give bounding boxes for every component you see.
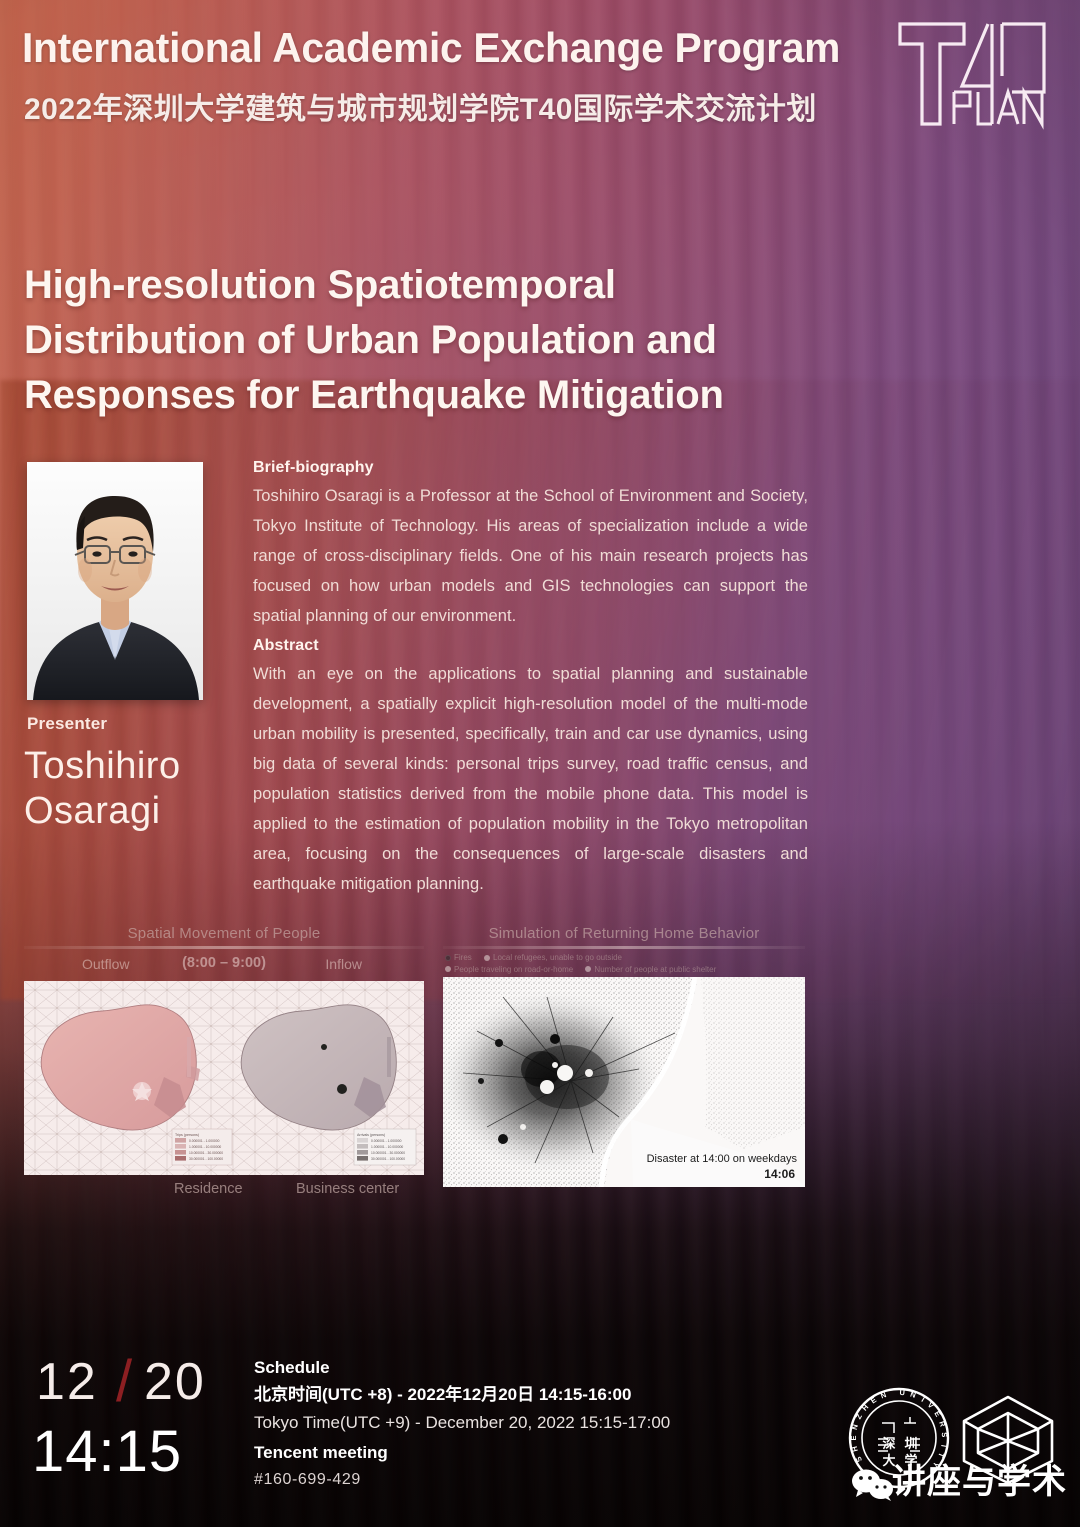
page-title: High-resolution Spatiotemporal Distribut…: [24, 258, 814, 423]
svg-text:1.000001 - 10.000000: 1.000001 - 10.000000: [189, 1145, 221, 1149]
figure-right-map-image: Disaster at 14:00 on weekdays 14:06: [443, 977, 805, 1187]
svg-text:0.000001 - 1.000000: 0.000001 - 1.000000: [189, 1139, 220, 1143]
presenter-label: Presenter: [27, 714, 107, 734]
meeting-heading: Tencent meeting: [254, 1443, 774, 1463]
legend-dot-refugees: [484, 955, 490, 961]
figures-section: Spatial Movement of People Outflow (8:00…: [0, 925, 1080, 1215]
meeting-id: #160-699-429: [254, 1466, 774, 1494]
header-title-chinese: 2022年深圳大学建筑与城市规划学院T40国际学术交流计划: [24, 84, 817, 128]
figure-returning-home-simulation: Simulation of Returning Home Behavior Fi…: [443, 925, 805, 1187]
svg-text:S: S: [854, 1455, 864, 1464]
event-date-month: 12: [36, 1352, 98, 1412]
schedule-tokyo-time: Tokyo Time(UTC +9) - December 20, 2022 1…: [254, 1409, 774, 1437]
bio-heading: Brief-biography: [253, 459, 808, 477]
figure-spatial-movement: Spatial Movement of People Outflow (8:00…: [24, 925, 424, 1203]
svg-text:10.000001 - 30.000000: 10.000001 - 30.000000: [189, 1151, 223, 1155]
figure-right-legend: Fires Local refugees, unable to go outsi…: [443, 952, 805, 975]
wechat-icon: [850, 1467, 896, 1501]
event-date: 12 / 20: [32, 1352, 242, 1408]
svg-text:N: N: [850, 1423, 860, 1430]
svg-text:30.000001 - 100.00000: 30.000001 - 100.00000: [371, 1157, 405, 1161]
legend-dot-shelter: [585, 966, 591, 972]
event-date-block: 12 / 20 14:15: [32, 1352, 242, 1485]
poster-root: International Academic Exchange Program …: [0, 0, 1080, 1527]
svg-text:E: E: [849, 1435, 858, 1440]
event-date-day: 20: [144, 1352, 206, 1412]
figure-right-caption: Disaster at 14:00 on weekdays: [647, 1153, 797, 1165]
svg-text:深: 深: [882, 1436, 895, 1451]
svg-text:U: U: [899, 1388, 905, 1397]
svg-text:S: S: [940, 1432, 949, 1438]
figure-right-title: Simulation of Returning Home Behavior: [443, 925, 805, 942]
svg-text:E: E: [932, 1409, 942, 1418]
figure-right-rule: [443, 946, 805, 949]
footer-logos: S H E N Z H E N U N I V E R S I T: [830, 1383, 1070, 1523]
figure-left-foot-residence: Residence: [174, 1181, 243, 1197]
presenter-photo: [27, 462, 203, 700]
figure-left-label-time: (8:00 – 9:00): [182, 955, 266, 971]
svg-text:E: E: [869, 1395, 878, 1405]
figure-left-foot-business-center: Business center: [296, 1181, 399, 1197]
bio-text: Toshihiro Osaragi is a Professor at the …: [253, 481, 808, 631]
legend-label-0: Fires: [454, 953, 472, 962]
abstract-text: With an eye on the applications to spati…: [253, 659, 808, 899]
figure-right-timestamp: 14:06: [764, 1167, 795, 1181]
event-date-separator: /: [116, 1348, 134, 1415]
figure-left-label-outflow: Outflow: [82, 956, 129, 972]
svg-text:I: I: [939, 1444, 948, 1448]
svg-text:30.000001 - 100.00000: 30.000001 - 100.00000: [189, 1157, 223, 1161]
legend-label-1: Local refugees, unable to go outside: [493, 953, 622, 962]
figure-left-map-image: Trips (persons) 0.000001 - 1.000000 1.00…: [24, 981, 424, 1175]
svg-text:Trips (persons): Trips (persons): [175, 1133, 199, 1137]
presenter-name: Toshihiro Osaragi: [24, 744, 239, 834]
figure-left-footer: Residence Business center: [24, 1179, 424, 1203]
svg-text:0.000001 - 1.000000: 0.000001 - 1.000000: [371, 1139, 402, 1143]
figure-left-sublabels: Outflow (8:00 – 9:00) Inflow: [24, 953, 424, 979]
wechat-account-name: 讲座与学术: [892, 1454, 1067, 1503]
poster-header: International Academic Exchange Program …: [0, 0, 1080, 150]
figure-left-rule: [24, 946, 424, 949]
schedule-block: Schedule 北京时间(UTC +8) - 2022年12月20日 14:1…: [254, 1358, 774, 1494]
abstract-heading: Abstract: [253, 637, 808, 655]
legend-label-2: People traveling on road-or-home: [454, 965, 573, 974]
body-content: Brief-biography Toshihiro Osaragi is a P…: [253, 459, 808, 899]
event-time: 14:15: [32, 1418, 242, 1485]
schedule-beijing-time: 北京时间(UTC +8) - 2022年12月20日 14:15-16:00: [254, 1381, 774, 1409]
schedule-heading: Schedule: [254, 1358, 774, 1378]
legend-dot-travelers: [445, 966, 451, 972]
legend-label-3: Number of people at public shelter: [594, 965, 716, 974]
legend-dot-fires: [445, 955, 451, 961]
svg-text:Arrivals (persons): Arrivals (persons): [357, 1133, 385, 1137]
svg-text:I: I: [920, 1395, 927, 1404]
figure-left-label-inflow: Inflow: [325, 956, 362, 972]
svg-text:10.000001 - 30.000000: 10.000001 - 30.000000: [371, 1151, 405, 1155]
t40-plan-logo-icon: [892, 14, 1052, 134]
header-title-english: International Academic Exchange Program: [22, 24, 840, 72]
svg-text:1.000001 - 10.000000: 1.000001 - 10.000000: [371, 1145, 403, 1149]
svg-text:H: H: [860, 1403, 870, 1413]
figure-left-title: Spatial Movement of People: [24, 925, 424, 942]
svg-text:圳: 圳: [904, 1436, 917, 1451]
svg-text:Z: Z: [854, 1412, 864, 1421]
